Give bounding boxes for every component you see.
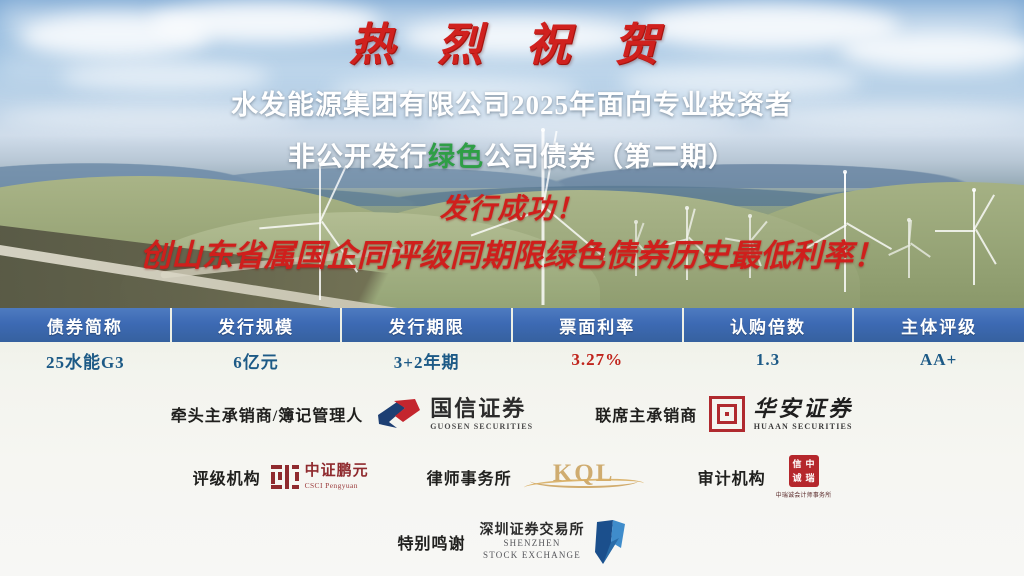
rating-agency-label: 评级机构 [193, 465, 261, 489]
info-panel: 债券简称 发行规模 发行期限 票面利率 认购倍数 主体评级 25水能G3 6亿元… [0, 308, 1024, 576]
audit-seal-icon: 信 中 诚 瑞 [789, 455, 819, 487]
audit-seal-char: 中 [806, 460, 815, 469]
congratulations-title: 热 烈 祝 贺 [0, 8, 1024, 73]
audit-firm-name: 中瑞诚会计师事务所 [776, 490, 832, 499]
table-header-row: 债券简称 发行规模 发行期限 票面利率 认购倍数 主体评级 [0, 308, 1024, 342]
td-subscription-multiple: 1.3 [683, 342, 854, 378]
szse-text-block: 深圳证券交易所 SHENZHEN STOCK EXCHANGE [480, 523, 585, 561]
td-issuer-rating: AA+ [853, 342, 1024, 378]
csci-name-cn: 中证鹏元 [305, 464, 369, 480]
record-rate-text: 创山东省属国企同评级同期限绿色债券历史最低利率！ [0, 230, 1024, 275]
lead-underwriter-label: 牵头主承销商/簿记管理人 [171, 402, 363, 426]
guosen-name-cn: 国信证券 [430, 397, 533, 420]
szse-name-cn: 深圳证券交易所 [480, 523, 585, 538]
huaan-name-en: HUAAN SECURITIES [753, 422, 853, 431]
huaan-text-block: 华安证券 HUAAN SECURITIES [753, 397, 853, 430]
law-firm-label: 律师事务所 [427, 465, 512, 489]
audit-seal-char: 信 [793, 460, 802, 469]
issuance-success-text: 发行成功！ [0, 187, 1024, 227]
special-thanks-row: 特别鸣谢 深圳证券交易所 SHENZHEN STOCK EXCHANGE [0, 513, 1024, 571]
guosen-name-en: GUOSEN SECURITIES [430, 422, 533, 431]
huaan-name-cn: 华安证券 [753, 397, 853, 420]
td-coupon-rate: 3.27% [512, 342, 683, 378]
underwriters-row: 牵头主承销商/簿记管理人 国信证券 GUOSEN SECURITIES 联席主承… [0, 388, 1024, 440]
td-issue-term: 3+2年期 [341, 342, 512, 378]
rating-agency-group: 评级机构 中证鹏元 CSCI Pengy [193, 464, 369, 490]
joint-underwriter-label: 联席主承销商 [595, 402, 697, 426]
service-providers-row: 评级机构 中证鹏元 CSCI Pengy [0, 450, 1024, 504]
td-issue-size: 6亿元 [171, 342, 342, 378]
szse-shield-icon [591, 518, 627, 566]
bond-line-part-a: 非公开发行 [288, 142, 428, 172]
th-issue-term: 发行期限 [341, 308, 512, 342]
issuer-line: 水发能源集团有限公司2025年面向专业投资者 [0, 83, 1024, 122]
th-issuer-rating: 主体评级 [853, 308, 1024, 342]
bond-line-green: 绿色 [428, 142, 484, 172]
csci-name-en: CSCI Pengyuan [305, 481, 369, 490]
guosen-text-block: 国信证券 GUOSEN SECURITIES [430, 397, 533, 430]
special-thanks-group: 特别鸣谢 深圳证券交易所 SHENZHEN STOCK EXCHANGE [397, 518, 626, 566]
special-thanks-label: 特别鸣谢 [397, 530, 465, 554]
szse-name-en2: STOCK EXCHANGE [480, 550, 585, 561]
lead-underwriter-group: 牵头主承销商/簿记管理人 国信证券 GUOSEN SECURITIES [171, 396, 533, 432]
guosen-mark-icon [375, 396, 423, 432]
bond-line: 非公开发行绿色公司债券（第二期） [0, 135, 1024, 174]
csci-text-block: 中证鹏元 CSCI Pengyuan [305, 464, 369, 490]
huaan-seal-icon [709, 396, 745, 432]
csci-mark-icon [271, 464, 299, 490]
th-subscription-multiple: 认购倍数 [683, 308, 854, 342]
hero-banner-photo: 热 烈 祝 贺 水发能源集团有限公司2025年面向专业投资者 非公开发行绿色公司… [0, 0, 1024, 308]
th-bond-name: 债券简称 [0, 308, 171, 342]
guosen-securities-logo: 国信证券 GUOSEN SECURITIES [375, 396, 533, 432]
audit-seal-char: 诚 [793, 474, 802, 483]
audit-agency-label: 审计机构 [698, 465, 766, 489]
table-row: 25水能G3 6亿元 3+2年期 3.27% 1.3 AA+ [0, 342, 1024, 378]
joint-underwriter-group: 联席主承销商 华安证券 HUAAN SECURITIES [595, 396, 853, 432]
bond-line-part-b: 公司债券（第二期） [484, 142, 736, 172]
audit-agency-group: 审计机构 信 中 诚 瑞 中瑞诚会计师事务所 [698, 455, 832, 499]
huaan-securities-logo: 华安证券 HUAAN SECURITIES [709, 396, 853, 432]
audit-seal-char: 瑞 [806, 474, 815, 483]
th-coupon-rate: 票面利率 [512, 308, 683, 342]
kql-law-firm-logo: KQL [524, 460, 644, 494]
law-firm-group: 律师事务所 KQL [427, 460, 644, 494]
td-bond-name: 25水能G3 [0, 342, 171, 378]
zhongruicheng-audit-logo: 信 中 诚 瑞 中瑞诚会计师事务所 [776, 455, 832, 499]
csci-pengyuan-logo: 中证鹏元 CSCI Pengyuan [271, 464, 369, 490]
szse-logo: 深圳证券交易所 SHENZHEN STOCK EXCHANGE [480, 518, 627, 566]
hero-text-block: 热 烈 祝 贺 水发能源集团有限公司2025年面向专业投资者 非公开发行绿色公司… [0, 0, 1024, 308]
szse-name-en1: SHENZHEN [480, 538, 585, 549]
bond-summary-table: 债券简称 发行规模 发行期限 票面利率 认购倍数 主体评级 25水能G3 6亿元… [0, 308, 1024, 378]
th-issue-size: 发行规模 [171, 308, 342, 342]
